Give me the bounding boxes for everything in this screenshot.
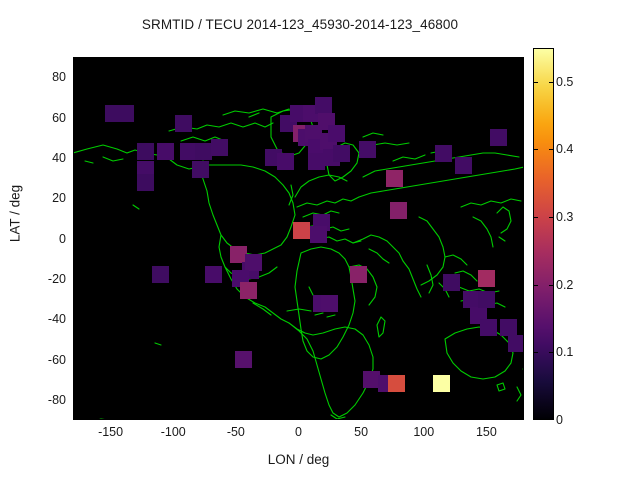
x-tick-label: 50: [326, 425, 396, 439]
data-cell: [480, 319, 497, 336]
data-cell: [277, 153, 294, 170]
data-cell: [359, 141, 376, 158]
x-tick-label: -100: [138, 425, 208, 439]
data-cell: [195, 143, 212, 160]
x-tick-label: 100: [389, 425, 459, 439]
x-tick-label: 150: [451, 425, 521, 439]
y-axis-label: LAT / deg: [8, 144, 23, 284]
data-cell: [137, 174, 154, 191]
colorbar-tick-mark: [549, 217, 554, 218]
y-tick-mark: [73, 198, 79, 199]
y-tick-mark: [73, 77, 79, 78]
y-tick-mark: [73, 158, 79, 159]
colorbar-tick-mark: [533, 352, 538, 353]
data-cell: [315, 97, 332, 114]
data-cell: [455, 157, 472, 174]
y-tick-label: -40: [0, 312, 66, 326]
x-tick-mark: [424, 414, 425, 420]
data-cell: [478, 270, 495, 287]
y-tick-mark: [73, 279, 79, 280]
data-cell: [205, 266, 222, 283]
x-tick-mark: [486, 414, 487, 420]
data-cell: [386, 170, 403, 187]
y-tick-mark: [73, 239, 79, 240]
chart-title: SRMTID / TECU 2014-123_45930-2014-123_46…: [0, 17, 600, 32]
x-tick-label: 0: [264, 425, 334, 439]
colorbar-tick-label: 0: [556, 413, 563, 427]
data-cell: [490, 129, 507, 146]
colorbar-tick-label: 0.3: [556, 210, 573, 224]
data-cell: [333, 145, 350, 162]
x-axis-label: LON / deg: [73, 452, 524, 467]
data-cell: [211, 139, 228, 156]
y-tick-mark: [73, 319, 79, 320]
y-tick-mark: [73, 118, 79, 119]
data-cell: [500, 319, 517, 336]
colorbar-tick-mark: [533, 285, 538, 286]
colorbar-tick-mark: [549, 149, 554, 150]
x-tick-label: -50: [201, 425, 271, 439]
colorbar-tick-mark: [549, 82, 554, 83]
y-tick-label: -80: [0, 393, 66, 407]
data-cell: [508, 335, 524, 352]
colorbar-tick-mark: [549, 352, 554, 353]
x-tick-mark: [361, 414, 362, 420]
y-tick-mark: [73, 360, 79, 361]
colorbar-tick-label: 0.4: [556, 142, 573, 156]
x-tick-mark: [173, 414, 174, 420]
data-cell: [245, 254, 262, 271]
data-cell: [117, 105, 134, 122]
data-cell: [388, 375, 405, 392]
colorbar[interactable]: [533, 48, 554, 420]
x-tick-mark: [299, 414, 300, 420]
map-plot-area[interactable]: [73, 57, 524, 420]
x-tick-mark: [111, 414, 112, 420]
data-cell: [310, 226, 327, 243]
y-tick-label: 60: [0, 111, 66, 125]
colorbar-tick-mark: [533, 149, 538, 150]
data-cell: [152, 266, 169, 283]
colorbar-gradient: [534, 49, 553, 419]
x-tick-mark: [236, 414, 237, 420]
data-cell: [192, 161, 209, 178]
x-tick-label: -150: [76, 425, 146, 439]
colorbar-tick-mark: [533, 217, 538, 218]
data-cell: [328, 125, 345, 142]
data-cell: [235, 351, 252, 368]
data-cell: [433, 375, 450, 392]
y-tick-mark: [73, 400, 79, 401]
data-cell: [157, 143, 174, 160]
colorbar-tick-mark: [549, 285, 554, 286]
data-cell: [137, 143, 154, 160]
colorbar-tick-label: 0.1: [556, 345, 573, 359]
colorbar-tick-label: 0.5: [556, 75, 573, 89]
y-tick-label: -60: [0, 353, 66, 367]
data-cell: [435, 145, 452, 162]
colorbar-tick-mark: [533, 82, 538, 83]
data-cell: [443, 274, 460, 291]
data-cell: [321, 295, 338, 312]
data-cell: [240, 282, 257, 299]
data-cell: [478, 291, 495, 308]
data-cell: [390, 202, 407, 219]
colorbar-tick-label: 0.2: [556, 278, 573, 292]
y-tick-label: 80: [0, 70, 66, 84]
data-cell: [350, 266, 367, 283]
data-cell: [293, 222, 310, 239]
figure-canvas: SRMTID / TECU 2014-123_45930-2014-123_46…: [0, 0, 640, 480]
data-cell: [175, 115, 192, 132]
